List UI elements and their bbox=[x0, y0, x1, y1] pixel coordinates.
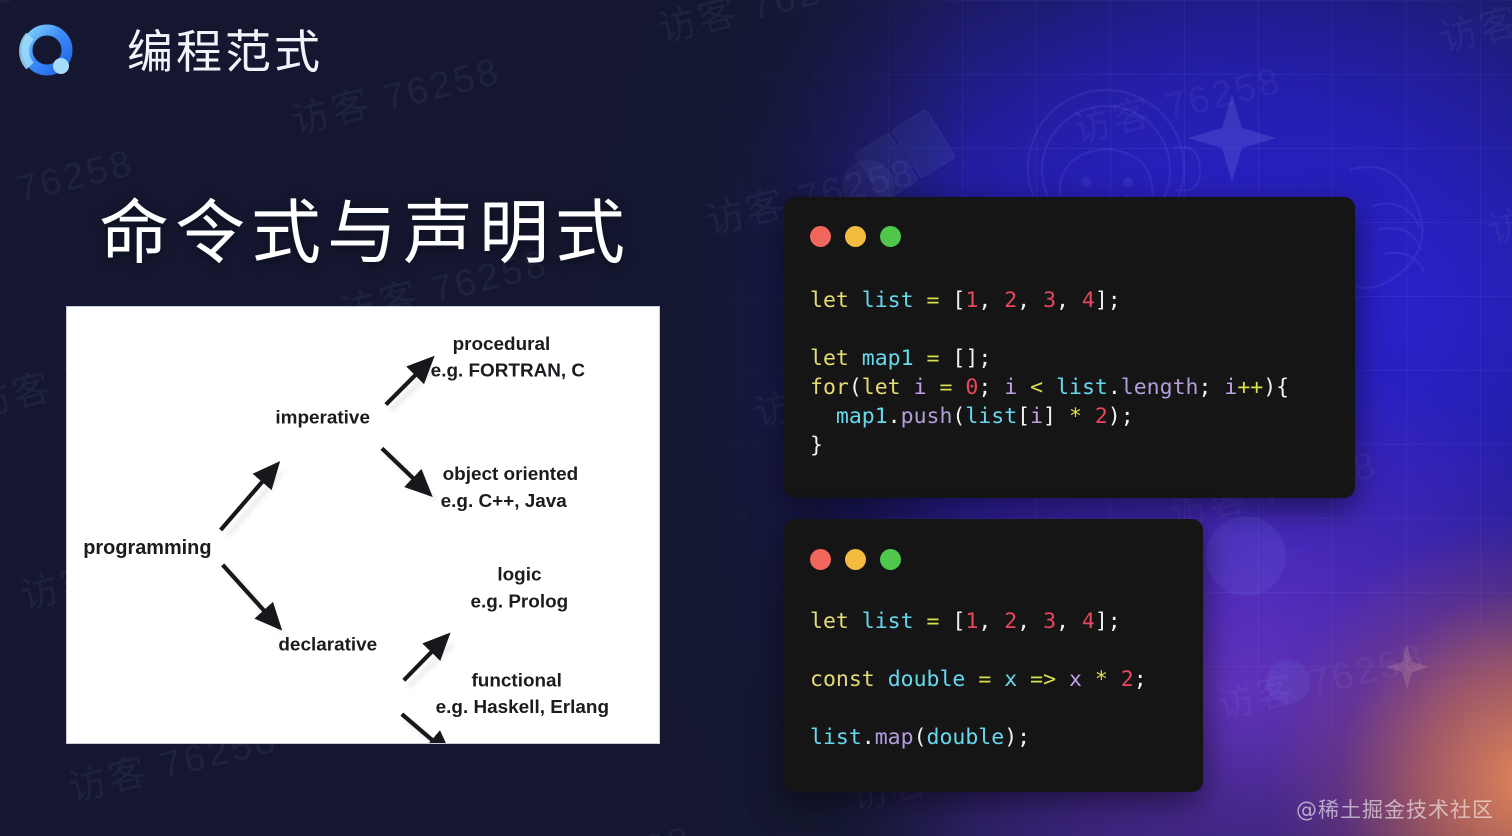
diagram-leaf-object-oriented-example: e.g. C++, Java bbox=[441, 491, 568, 512]
code-token bbox=[849, 609, 862, 634]
code-token: [ bbox=[939, 288, 965, 313]
code-token: list bbox=[810, 725, 862, 750]
minimize-button-dot[interactable] bbox=[845, 226, 866, 247]
code-token: let bbox=[862, 375, 901, 400]
watermark-tile: 访客 76258 bbox=[0, 377, 14, 661]
code-token: push bbox=[901, 404, 953, 429]
code-token: = bbox=[927, 288, 940, 313]
code-window-imperative: let list = [1, 2, 3, 4];let map1 = [];fo… bbox=[784, 197, 1355, 498]
slide-root: 访客 76258访客 76258访客 76258访客 76258访客 76258… bbox=[0, 0, 1512, 836]
paradigm-diagram-card: programming imperative procedural e.g. F… bbox=[66, 306, 660, 744]
watermark-tile: 访客 76258 bbox=[1482, 112, 1512, 396]
watermark-tile: 访客 76258 bbox=[0, 761, 110, 836]
diagram-leaf-functional: functional bbox=[472, 670, 562, 691]
code-line: for(let i = 0; i < list.length; i++){ bbox=[810, 373, 1341, 402]
code-token: 4 bbox=[1082, 288, 1095, 313]
maximize-button-dot[interactable] bbox=[880, 549, 901, 570]
code-token: 1 bbox=[965, 288, 978, 313]
code-token: length bbox=[1121, 375, 1199, 400]
minimize-button-dot[interactable] bbox=[845, 549, 866, 570]
watermark-tile: 访客 76258 bbox=[0, 569, 62, 836]
code-token: ){ bbox=[1263, 375, 1289, 400]
code-window-declarative: let list = [1, 2, 3, 4];const double = x… bbox=[784, 519, 1203, 792]
code-token: ]; bbox=[1095, 288, 1121, 313]
code-token: . bbox=[862, 725, 875, 750]
code-token bbox=[1056, 667, 1069, 692]
code-token: let bbox=[810, 609, 849, 634]
code-token: } bbox=[810, 433, 823, 458]
code-token bbox=[849, 288, 862, 313]
window-controls-2[interactable] bbox=[810, 549, 901, 570]
code-line: let map1 = []; bbox=[810, 344, 1341, 373]
code-token: ); bbox=[1004, 725, 1030, 750]
code-token: ; bbox=[978, 375, 1004, 400]
code-token bbox=[1017, 667, 1030, 692]
code-token bbox=[952, 375, 965, 400]
code-token: map1 bbox=[836, 404, 888, 429]
code-token: 2 bbox=[1004, 609, 1017, 634]
code-token: * bbox=[1095, 667, 1108, 692]
code-token: for bbox=[810, 375, 849, 400]
code-token: ( bbox=[849, 375, 862, 400]
code-token bbox=[875, 667, 888, 692]
code-token bbox=[914, 609, 927, 634]
code-token: i bbox=[1224, 375, 1237, 400]
code-token: = bbox=[927, 609, 940, 634]
code-token: 4 bbox=[1082, 609, 1095, 634]
code-token: ( bbox=[952, 404, 965, 429]
code-token bbox=[901, 375, 914, 400]
code-token bbox=[914, 288, 927, 313]
code-token: let bbox=[810, 288, 849, 313]
community-watermark: @稀土掘金技术社区 bbox=[1296, 795, 1494, 825]
diagram-leaf-procedural: procedural bbox=[453, 334, 551, 355]
code-token: map bbox=[875, 725, 914, 750]
code-line: } bbox=[810, 431, 1341, 460]
code-token: 3 bbox=[1043, 609, 1056, 634]
code-token: list bbox=[965, 404, 1017, 429]
code-token: ; bbox=[1134, 667, 1147, 692]
code-token: => bbox=[1030, 667, 1056, 692]
close-button-dot[interactable] bbox=[810, 226, 831, 247]
code-token: , bbox=[1056, 288, 1082, 313]
code-content-declarative: let list = [1, 2, 3, 4];const double = x… bbox=[810, 607, 1189, 752]
code-token: 2 bbox=[1004, 288, 1017, 313]
code-token: 2 bbox=[1121, 667, 1134, 692]
code-token: . bbox=[888, 404, 901, 429]
code-token bbox=[810, 404, 836, 429]
maximize-button-dot[interactable] bbox=[880, 226, 901, 247]
code-blank-line bbox=[810, 694, 1189, 723]
page-title: 编程范式 bbox=[127, 19, 323, 85]
juejin-q-logo-icon bbox=[18, 21, 78, 81]
code-token: = bbox=[927, 346, 940, 371]
code-token: x bbox=[1069, 667, 1082, 692]
code-token: ); bbox=[1108, 404, 1134, 429]
code-token: []; bbox=[939, 346, 991, 371]
code-token: ]; bbox=[1095, 609, 1121, 634]
code-token: , bbox=[1056, 609, 1082, 634]
code-token: 0 bbox=[965, 375, 978, 400]
code-token bbox=[1017, 375, 1030, 400]
diagram-leaf-procedural-example: e.g. FORTRAN, C bbox=[431, 361, 586, 382]
code-token: 2 bbox=[1095, 404, 1108, 429]
code-token: < bbox=[1030, 375, 1043, 400]
code-token bbox=[1082, 404, 1095, 429]
code-token: double bbox=[927, 725, 1005, 750]
code-token bbox=[849, 346, 862, 371]
code-blank-line bbox=[810, 315, 1341, 344]
code-line: let list = [1, 2, 3, 4]; bbox=[810, 607, 1189, 636]
diagram-leaf-logic-example: e.g. Prolog bbox=[471, 592, 569, 613]
code-token: ] bbox=[1043, 404, 1069, 429]
code-token bbox=[1082, 667, 1095, 692]
code-token: 3 bbox=[1043, 288, 1056, 313]
code-token: ; bbox=[1198, 375, 1224, 400]
code-token: list bbox=[862, 609, 914, 634]
code-token: ++ bbox=[1237, 375, 1263, 400]
code-content-imperative: let list = [1, 2, 3, 4];let map1 = [];fo… bbox=[810, 286, 1341, 460]
code-line: map1.push(list[i] * 2); bbox=[810, 402, 1341, 431]
diagram-leaf-logic: logic bbox=[497, 565, 541, 586]
window-controls-1[interactable] bbox=[810, 226, 901, 247]
code-token: list bbox=[862, 288, 914, 313]
code-line: list.map(double); bbox=[810, 723, 1189, 752]
code-token: double bbox=[888, 667, 966, 692]
code-token bbox=[965, 667, 978, 692]
code-token bbox=[991, 667, 1004, 692]
code-token bbox=[927, 375, 940, 400]
code-token: , bbox=[978, 609, 1004, 634]
diagram-leaf-object-oriented: object oriented bbox=[443, 464, 579, 485]
code-token: , bbox=[978, 288, 1004, 313]
close-button-dot[interactable] bbox=[810, 549, 831, 570]
slide-header: 编程范式 bbox=[0, 0, 1512, 105]
code-token: i bbox=[914, 375, 927, 400]
code-token bbox=[1043, 375, 1056, 400]
code-token: = bbox=[978, 667, 991, 692]
diagram-root-label: programming bbox=[83, 537, 211, 559]
code-token: i bbox=[1030, 404, 1043, 429]
code-token: . bbox=[1108, 375, 1121, 400]
code-token: list bbox=[1056, 375, 1108, 400]
code-token: 1 bbox=[965, 609, 978, 634]
diagram-branch-imperative: imperative bbox=[275, 407, 370, 428]
code-line: const double = x => x * 2; bbox=[810, 665, 1189, 694]
code-token bbox=[1108, 667, 1121, 692]
code-token: , bbox=[1017, 288, 1043, 313]
code-token bbox=[914, 346, 927, 371]
code-token: [ bbox=[1017, 404, 1030, 429]
code-token: * bbox=[1069, 404, 1082, 429]
code-token: = bbox=[940, 375, 953, 400]
code-token: const bbox=[810, 667, 875, 692]
code-token: x bbox=[1004, 667, 1017, 692]
code-blank-line bbox=[810, 636, 1189, 665]
paradigm-diagram: programming imperative procedural e.g. F… bbox=[67, 307, 659, 743]
code-token: i bbox=[1004, 375, 1017, 400]
code-token: ( bbox=[914, 725, 927, 750]
diagram-leaf-functional-example: e.g. Haskell, Erlang bbox=[436, 697, 609, 718]
code-line: let list = [1, 2, 3, 4]; bbox=[810, 286, 1341, 315]
code-token: let bbox=[810, 346, 849, 371]
diagram-branch-declarative: declarative bbox=[278, 634, 377, 655]
code-token: map1 bbox=[862, 346, 914, 371]
code-token: [ bbox=[939, 609, 965, 634]
section-heading: 命令式与声明式 bbox=[99, 185, 631, 281]
code-token: , bbox=[1017, 609, 1043, 634]
